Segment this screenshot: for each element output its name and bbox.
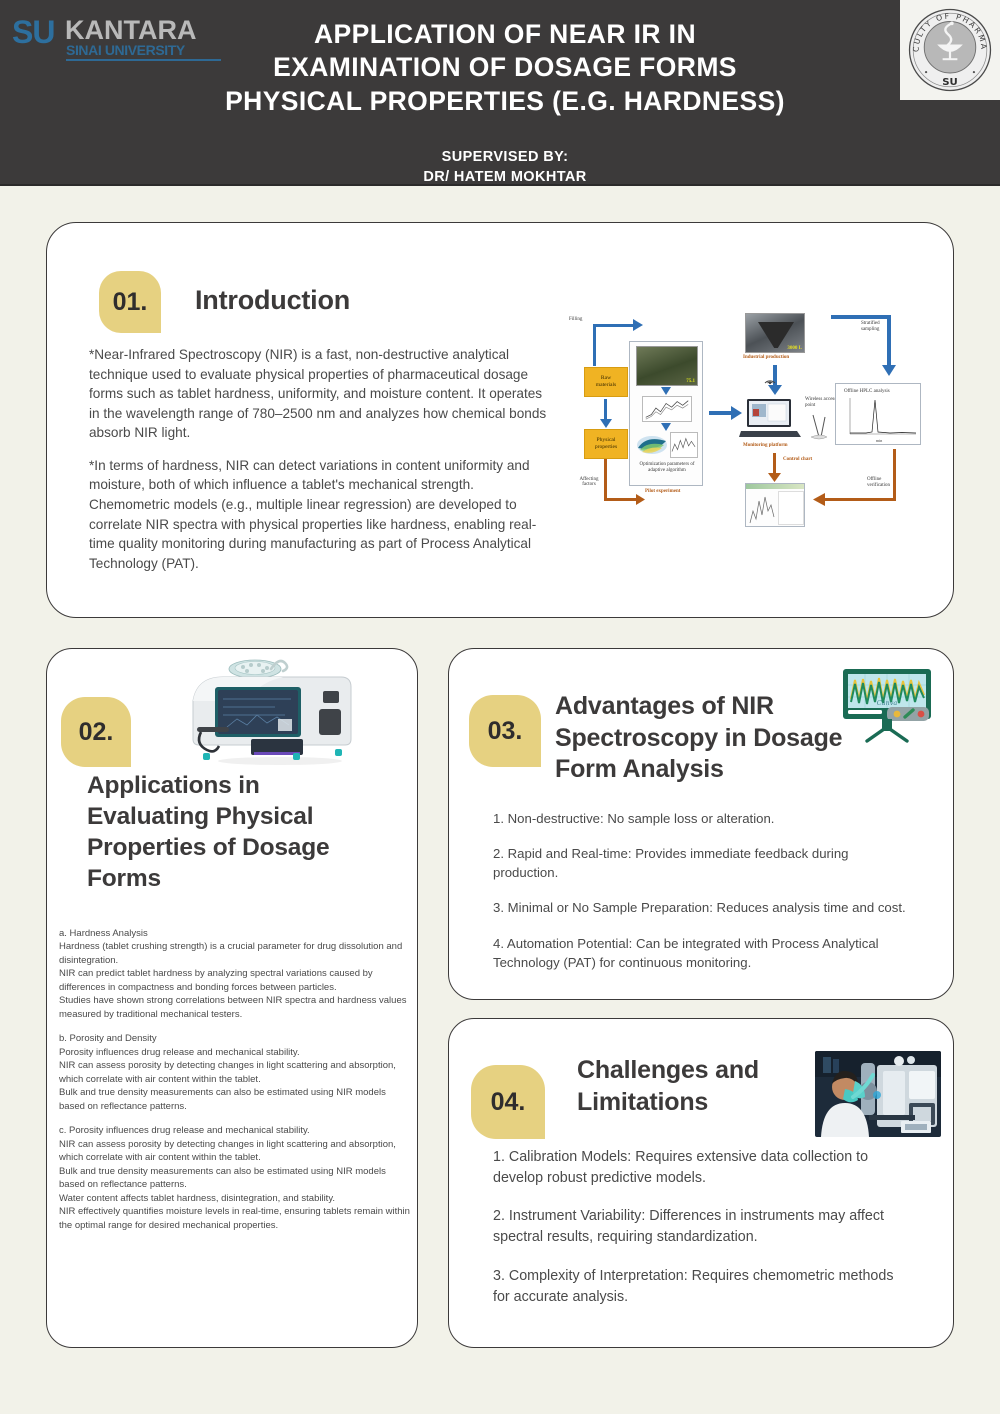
spectrum-monitor-icon: Canva [841,667,933,745]
diagram-panel-hplc: Offline HPLC analysis min [835,383,921,445]
diagram-signal-icon [763,373,777,385]
diagram-residual-minichart [670,432,698,458]
section-card-introduction: 01. Introduction *Near-Infrared Spectros… [46,222,954,618]
diagram-label-pilot-experiment: Pilot experiment [645,489,680,494]
diagram-photo-industrial-tank: 3000 L [745,313,805,353]
section-number-badge-04: 04. [471,1065,545,1139]
diagram-label-offline-verification: Offlineverification [867,477,907,489]
introduction-paragraph-1: *Near-Infrared Spectroscopy (NIR) is a f… [89,345,549,443]
diagram-laptop-icon [739,397,801,441]
arrow-icon [600,419,612,428]
canva-watermark: Canva [877,699,898,707]
challenges-item-2: 2. Instrument Variability: Differences i… [493,1206,913,1247]
section-heading-challenges: Challenges and Limitations [577,1055,807,1118]
advantages-item-2: 2. Rapid and Real-time: Provides immedia… [493,844,913,882]
introduction-body: *Near-Infrared Spectroscopy (NIR) is a f… [89,345,549,573]
advantages-item-1: 1. Non-destructive: No sample loss or al… [493,809,913,828]
section-number-badge-03: 03. [469,695,541,767]
nir-benchtop-analyzer-photo [175,657,385,765]
poster-title: APPLICATION OF NEAR IR IN EXAMINATION OF… [225,18,785,118]
diagram-label-wireless-access-point: Wireless accesspoint [805,397,839,409]
diagram-label-control-chart: Control chart [783,457,812,462]
introduction-paragraph-2: *In terms of hardness, NIR can detect va… [89,456,549,573]
diagram-label-stratified-sampling: Stratifiedsampling [861,321,897,333]
nir-process-flow-diagram: Filling Rawmaterials Physicalproperties … [567,301,937,531]
diagram-label-hplc-xaxis: min [876,438,882,443]
arrow-icon [636,494,645,505]
applications-body: a. Hardness Analysis Hardness (tablet cr… [59,927,411,1232]
diagram-panel-pilot-experiment: 75.1 Optimization parameters ofada [629,341,703,486]
applications-paragraph-b: b. Porosity and Density Porosity influen… [59,1032,411,1113]
diagram-label-affecting-factors: Affectingfactors [569,477,609,487]
advantages-item-3: 3. Minimal or No Sample Preparation: Red… [493,898,913,917]
poster-root: SU KANTARA SINAI UNIVERSITY APPLICATION … [0,0,1000,1414]
laboratory-scientist-photo [815,1051,941,1137]
section-card-challenges: 04. Challenges and Limitations [448,1018,954,1348]
logo-su-mark: SU [12,14,54,51]
advantages-item-4: 4. Automation Potential: Can be integrat… [493,934,913,972]
faculty-of-pharmacy-seal: FACULTY OF PHARMACY SU [900,0,1000,100]
section-number-badge-01: 01. [99,271,161,333]
diagram-label-mill-reading: 75.1 [686,379,695,384]
supervisor-block: SUPERVISED BY: DR/ HATEM MOKHTAR [225,148,785,187]
diagram-spectra-minichart [642,396,692,422]
section-heading-applications: Applications in Evaluating Physical Prop… [87,771,387,894]
diagram-label-optimization: Optimization parameters ofadaptive algor… [633,462,701,475]
advantages-list: 1. Non-destructive: No sample loss or al… [493,809,913,972]
section-card-advantages: 03. Advantages of NIR Spectroscopy in Do… [448,648,954,1000]
svg-text:SU: SU [942,77,958,88]
challenges-item-3: 3. Complexity of Interpretation: Require… [493,1266,913,1307]
section-heading-advantages: Advantages of NIR Spectroscopy in Dosage… [555,691,845,786]
challenges-list: 1. Calibration Models: Requires extensiv… [493,1147,913,1307]
challenges-item-1: 1. Calibration Models: Requires extensiv… [493,1147,913,1188]
diagram-label-monitoring-platform: Monitoring platform [743,443,788,448]
section-number-badge-02: 02. [61,697,131,767]
applications-paragraph-c: c. Porosity influences drug release and … [59,1124,411,1232]
logo-sinai-university-text: SINAI UNIVERSITY [66,42,221,61]
applications-paragraph-a: a. Hardness Analysis Hardness (tablet cr… [59,927,411,1021]
diagram-surface-plot [636,432,668,458]
poster-header: SU KANTARA SINAI UNIVERSITY APPLICATION … [0,0,1000,186]
faculty-seal-icon: FACULTY OF PHARMACY SU [904,4,996,96]
section-heading-introduction: Introduction [195,285,350,316]
diagram-label-tank-volume: 3000 L [787,346,802,351]
supervisor-name: DR/ HATEM MOKHTAR [225,168,785,188]
arrow-icon [633,319,643,331]
diagram-label-offline-hplc: Offline HPLC analysis [844,389,890,394]
diagram-label-industrial-production: Industrial production [743,355,789,360]
supervised-by-label: SUPERVISED BY: [225,148,785,168]
diagram-box-physical-properties: Physicalproperties [584,429,628,459]
diagram-label-filling: Filling [569,317,582,322]
section-card-applications: 02. [46,648,418,1348]
diagram-box-raw-materials: Rawmaterials [584,367,628,397]
diagram-panel-control-chart [745,483,805,527]
sinai-university-logo: SU KANTARA SINAI UNIVERSITY [12,14,222,64]
